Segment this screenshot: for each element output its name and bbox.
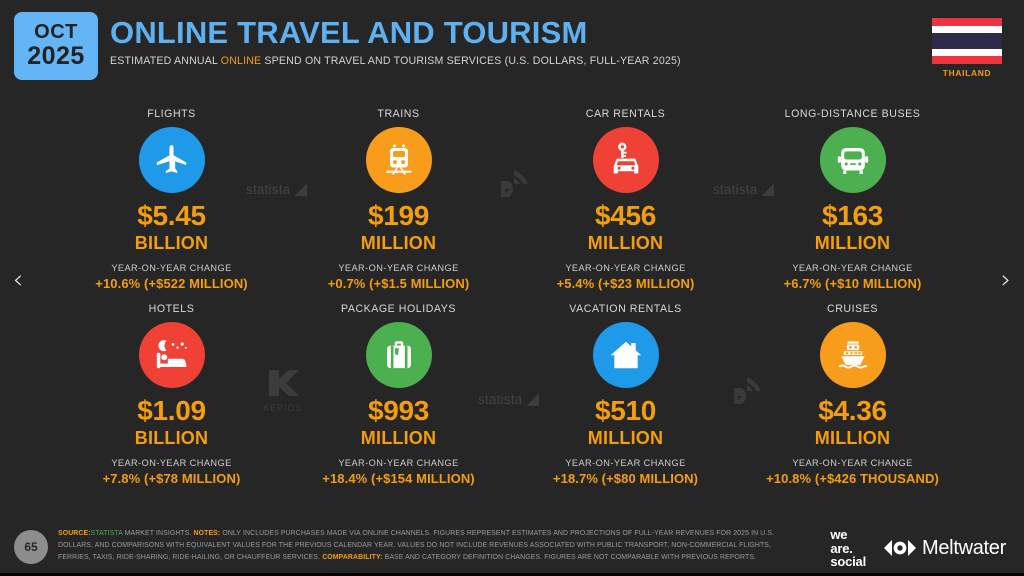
house-icon-container — [593, 322, 659, 388]
metric-unit: MILLION — [588, 427, 663, 450]
category-label: HOTELS — [149, 303, 195, 315]
airplane-icon-container — [139, 127, 205, 193]
brand-logos: we are. social Meltwater — [830, 528, 1006, 569]
metric-value: $5.45 — [137, 202, 206, 230]
country-flag-block: THAILAND — [932, 18, 1002, 78]
yoy-value: +18.4% (+$154 MILLION) — [322, 471, 474, 486]
house-icon — [606, 335, 646, 375]
metric-unit: MILLION — [361, 232, 436, 255]
we-are-social-logo: we are. social — [830, 528, 866, 569]
metric-value: $510 — [595, 397, 656, 425]
cruise-ship-icon — [833, 335, 873, 375]
header: OCT 2025 ONLINE TRAVEL AND TOURISM ESTIM… — [0, 0, 1024, 96]
car-rental-key-icon-container — [593, 127, 659, 193]
category-label: VACATION RENTALS — [569, 303, 681, 315]
suitcase-icon-container — [366, 322, 432, 388]
suitcase-icon — [380, 336, 418, 374]
notes-key: NOTES: — [194, 530, 221, 537]
date-year: 2025 — [27, 43, 85, 69]
metric-unit: MILLION — [815, 427, 890, 450]
category-label: CRUISES — [827, 303, 878, 315]
category-label: FLIGHTS — [147, 108, 196, 120]
metric-unit: MILLION — [815, 232, 890, 255]
metric-unit: MILLION — [361, 427, 436, 450]
source-key: SOURCE: — [58, 530, 91, 537]
yoy-label: YEAR-ON-YEAR CHANGE — [792, 458, 912, 468]
comparability-text: BASE AND CATEGORY DEFINITION CHANGES. FI… — [383, 554, 757, 561]
yoy-label: YEAR-ON-YEAR CHANGE — [338, 458, 458, 468]
yoy-label: YEAR-ON-YEAR CHANGE — [338, 263, 458, 273]
category-label: LONG-DISTANCE BUSES — [785, 108, 921, 120]
yoy-value: +5.4% (+$23 MILLION) — [557, 276, 695, 291]
thailand-flag-icon — [932, 18, 1002, 64]
hotel-bed-icon — [151, 334, 193, 376]
cruise-ship-icon-container — [820, 322, 886, 388]
was-line-2: are. — [830, 542, 866, 556]
page-subtitle: ESTIMATED ANNUAL ONLINE SPEND ON TRAVEL … — [110, 55, 681, 67]
metric-card-cruises[interactable]: CRUISES $4.36 MILLION YEAR-ON-YEAR CHANG… — [739, 303, 966, 498]
source-rest: MARKET INSIGHTS. — [123, 530, 194, 537]
metric-card-package-holidays[interactable]: PACKAGE HOLIDAYS $993 MILLION YEAR-ON-YE… — [285, 303, 512, 498]
yoy-value: +6.7% (+$10 MILLION) — [784, 276, 922, 291]
footer: 65 SOURCE:STATISTA MARKET INSIGHTS. NOTE… — [0, 524, 1024, 576]
metric-value: $199 — [368, 202, 429, 230]
date-month: OCT — [34, 22, 78, 43]
yoy-value: +10.8% (+$426 THOUSAND) — [766, 471, 939, 486]
subtitle-highlight: ONLINE — [221, 55, 262, 67]
chevron-left-icon[interactable]: ‹ — [4, 262, 32, 298]
category-label: CAR RENTALS — [586, 108, 665, 120]
yoy-value: +0.7% (+$1.5 MILLION) — [328, 276, 470, 291]
category-label: TRAINS — [377, 108, 419, 120]
yoy-value: +18.7% (+$80 MILLION) — [553, 471, 698, 486]
metric-card-trains[interactable]: TRAINS $199 MILLION YEAR-ON-YEAR CHANGE … — [285, 108, 512, 303]
meltwater-name: Meltwater — [922, 537, 1006, 560]
metric-card-hotels[interactable]: HOTELS $1.09 BILLION YEAR-ON-YEAR CHANGE… — [58, 303, 285, 498]
category-label: PACKAGE HOLIDAYS — [341, 303, 456, 315]
metric-value: $993 — [368, 397, 429, 425]
date-badge: OCT 2025 — [14, 12, 98, 80]
comparability-key: COMPARABILITY: — [322, 554, 382, 561]
metric-value: $1.09 — [137, 397, 206, 425]
metric-unit: BILLION — [135, 427, 208, 450]
yoy-label: YEAR-ON-YEAR CHANGE — [111, 263, 231, 273]
meltwater-eye-icon — [882, 538, 918, 558]
yoy-label: YEAR-ON-YEAR CHANGE — [111, 458, 231, 468]
page-number-badge: 65 — [14, 530, 48, 564]
metric-card-vacation-rentals[interactable]: VACATION RENTALS $510 MILLION YEAR-ON-YE… — [512, 303, 739, 498]
yoy-label: YEAR-ON-YEAR CHANGE — [565, 458, 685, 468]
meltwater-logo: Meltwater — [882, 537, 1006, 560]
metric-value: $456 — [595, 202, 656, 230]
source-name: STATISTA — [91, 530, 123, 537]
metric-value: $4.36 — [818, 397, 887, 425]
yoy-label: YEAR-ON-YEAR CHANGE — [565, 263, 685, 273]
chevron-right-icon[interactable]: › — [992, 262, 1020, 298]
bus-icon — [833, 140, 873, 180]
country-label: THAILAND — [932, 68, 1002, 78]
metric-value: $163 — [822, 202, 883, 230]
metrics-grid: FLIGHTS $5.45 BILLION YEAR-ON-YEAR CHANG… — [58, 108, 966, 498]
was-line-1: we — [830, 528, 866, 542]
train-icon — [381, 142, 417, 178]
bus-icon-container — [820, 127, 886, 193]
airplane-icon — [153, 141, 191, 179]
yoy-value: +10.6% (+$522 MILLION) — [95, 276, 247, 291]
was-line-3: social — [830, 555, 866, 569]
source-notes: SOURCE:STATISTA MARKET INSIGHTS. NOTES: … — [58, 528, 788, 564]
hotel-bed-icon-container — [139, 322, 205, 388]
metric-unit: MILLION — [588, 232, 663, 255]
subtitle-part-1: ESTIMATED ANNUAL — [110, 55, 221, 67]
title-block: ONLINE TRAVEL AND TOURISM ESTIMATED ANNU… — [110, 16, 681, 67]
yoy-value: +7.8% (+$78 MILLION) — [103, 471, 241, 486]
metric-card-flights[interactable]: FLIGHTS $5.45 BILLION YEAR-ON-YEAR CHANG… — [58, 108, 285, 303]
metric-card-car-rentals[interactable]: CAR RENTALS $456 MILLION YEAR-ON-YEAR CH… — [512, 108, 739, 303]
page-title: ONLINE TRAVEL AND TOURISM — [110, 16, 681, 51]
yoy-label: YEAR-ON-YEAR CHANGE — [792, 263, 912, 273]
car-rental-key-icon — [606, 140, 646, 180]
metric-unit: BILLION — [135, 232, 208, 255]
subtitle-part-2: SPEND ON TRAVEL AND TOURISM SERVICES (U.… — [261, 55, 680, 67]
train-icon-container — [366, 127, 432, 193]
metric-card-long-distance-buses[interactable]: LONG-DISTANCE BUSES $163 MILLION YEAR-ON… — [739, 108, 966, 303]
